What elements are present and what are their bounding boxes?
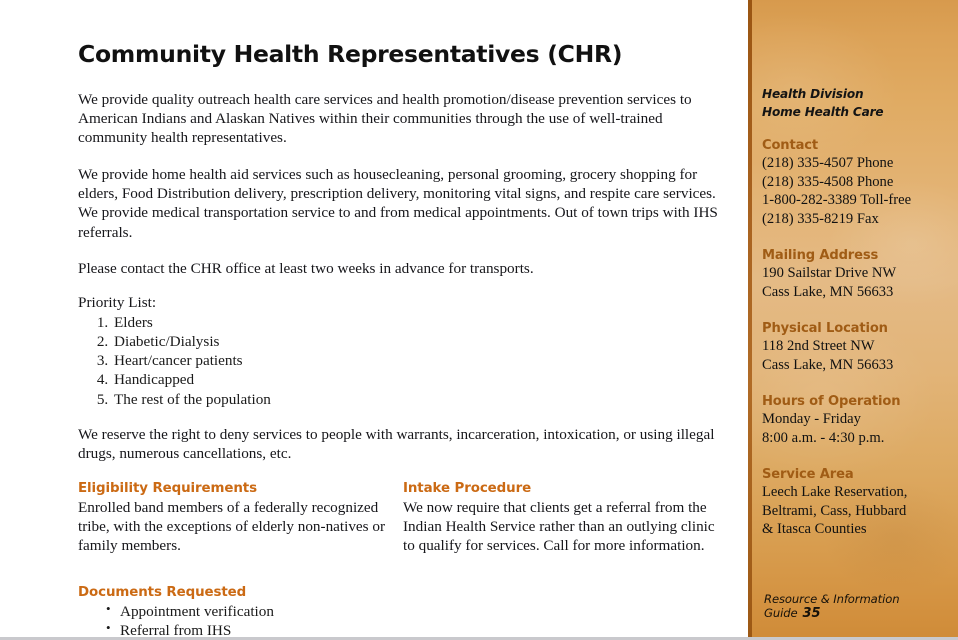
contact-details: (218) 335-4507 Phone (218) 335-4508 Phon… xyxy=(762,154,948,228)
footer-guide-title: Resource & Information Guide xyxy=(764,592,899,620)
two-column-section: Eligibility Requirements Enrolled band m… xyxy=(78,481,718,555)
service-area-line-1: Leech Lake Reservation, xyxy=(762,483,948,502)
priority-list: Elders Diabetic/Dialysis Heart/cancer pa… xyxy=(78,313,718,409)
sidebar-edge-stripe xyxy=(748,0,752,640)
sidebar-content: Health Division Home Health Care Contact… xyxy=(762,86,948,559)
organization-line-1: Health Division xyxy=(762,86,948,104)
mailing-city-state-zip: Cass Lake, MN 56633 xyxy=(762,283,948,302)
documents-requested-heading: Documents Requested xyxy=(78,585,718,600)
eligibility-heading: Eligibility Requirements xyxy=(78,481,395,496)
service-denial-paragraph: We reserve the right to deny services to… xyxy=(78,425,718,464)
mailing-address-details: 190 Sailstar Drive NW Cass Lake, MN 5663… xyxy=(762,264,948,301)
contact-heading: Contact xyxy=(762,138,948,153)
priority-list-label: Priority List: xyxy=(78,293,718,312)
list-item: Appointment verification xyxy=(106,602,718,621)
fax-line: (218) 335-8219 Fax xyxy=(762,210,948,229)
documents-requested-block: Documents Requested Appointment verifica… xyxy=(78,585,718,640)
physical-location-heading: Physical Location xyxy=(762,321,948,336)
sidebar-organization: Health Division Home Health Care xyxy=(762,86,948,121)
main-content-column: Community Health Representatives (CHR) W… xyxy=(78,42,718,640)
list-item: The rest of the population xyxy=(112,390,718,409)
services-paragraph: We provide home health aid services such… xyxy=(78,165,718,242)
service-area-line-2: Beltrami, Cass, Hubbard xyxy=(762,502,948,521)
toll-free-line: 1-800-282-3389 Toll-free xyxy=(762,191,948,210)
documents-requested-list: Appointment verification Referral from I… xyxy=(78,602,718,640)
physical-location-details: 118 2nd Street NW Cass Lake, MN 56633 xyxy=(762,337,948,374)
hours-of-operation-details: Monday - Friday 8:00 a.m. - 4:30 p.m. xyxy=(762,410,948,447)
intake-heading: Intake Procedure xyxy=(403,481,718,496)
page-number: 35 xyxy=(803,606,821,621)
hours-days: Monday - Friday xyxy=(762,410,948,429)
intro-paragraph: We provide quality outreach health care … xyxy=(78,90,718,148)
organization-line-2: Home Health Care xyxy=(762,104,948,122)
transport-notice-paragraph: Please contact the CHR office at least t… xyxy=(78,259,718,278)
intake-block: Intake Procedure We now require that cli… xyxy=(403,481,718,555)
page-footer: Resource & Information Guide35 xyxy=(764,592,954,621)
intake-body: We now require that clients get a referr… xyxy=(403,498,718,555)
mailing-address-heading: Mailing Address xyxy=(762,248,948,263)
service-area-details: Leech Lake Reservation, Beltrami, Cass, … xyxy=(762,483,948,539)
mailing-street: 190 Sailstar Drive NW xyxy=(762,264,948,283)
list-item: Elders xyxy=(112,313,718,332)
phone-line-2: (218) 335-4508 Phone xyxy=(762,173,948,192)
eligibility-body: Enrolled band members of a federally rec… xyxy=(78,498,395,555)
list-item: Heart/cancer patients xyxy=(112,351,718,370)
physical-city-state-zip: Cass Lake, MN 56633 xyxy=(762,356,948,375)
hours-of-operation-heading: Hours of Operation xyxy=(762,394,948,409)
service-area-line-3: & Itasca Counties xyxy=(762,520,948,539)
phone-line-1: (218) 335-4507 Phone xyxy=(762,154,948,173)
physical-street: 118 2nd Street NW xyxy=(762,337,948,356)
hours-times: 8:00 a.m. - 4:30 p.m. xyxy=(762,429,948,448)
service-area-heading: Service Area xyxy=(762,467,948,482)
document-page: Community Health Representatives (CHR) W… xyxy=(0,0,958,640)
eligibility-block: Eligibility Requirements Enrolled band m… xyxy=(78,481,403,555)
list-item: Diabetic/Dialysis xyxy=(112,332,718,351)
page-title: Community Health Representatives (CHR) xyxy=(78,42,718,68)
contact-sidebar: Health Division Home Health Care Contact… xyxy=(748,0,958,640)
list-item: Handicapped xyxy=(112,370,718,389)
